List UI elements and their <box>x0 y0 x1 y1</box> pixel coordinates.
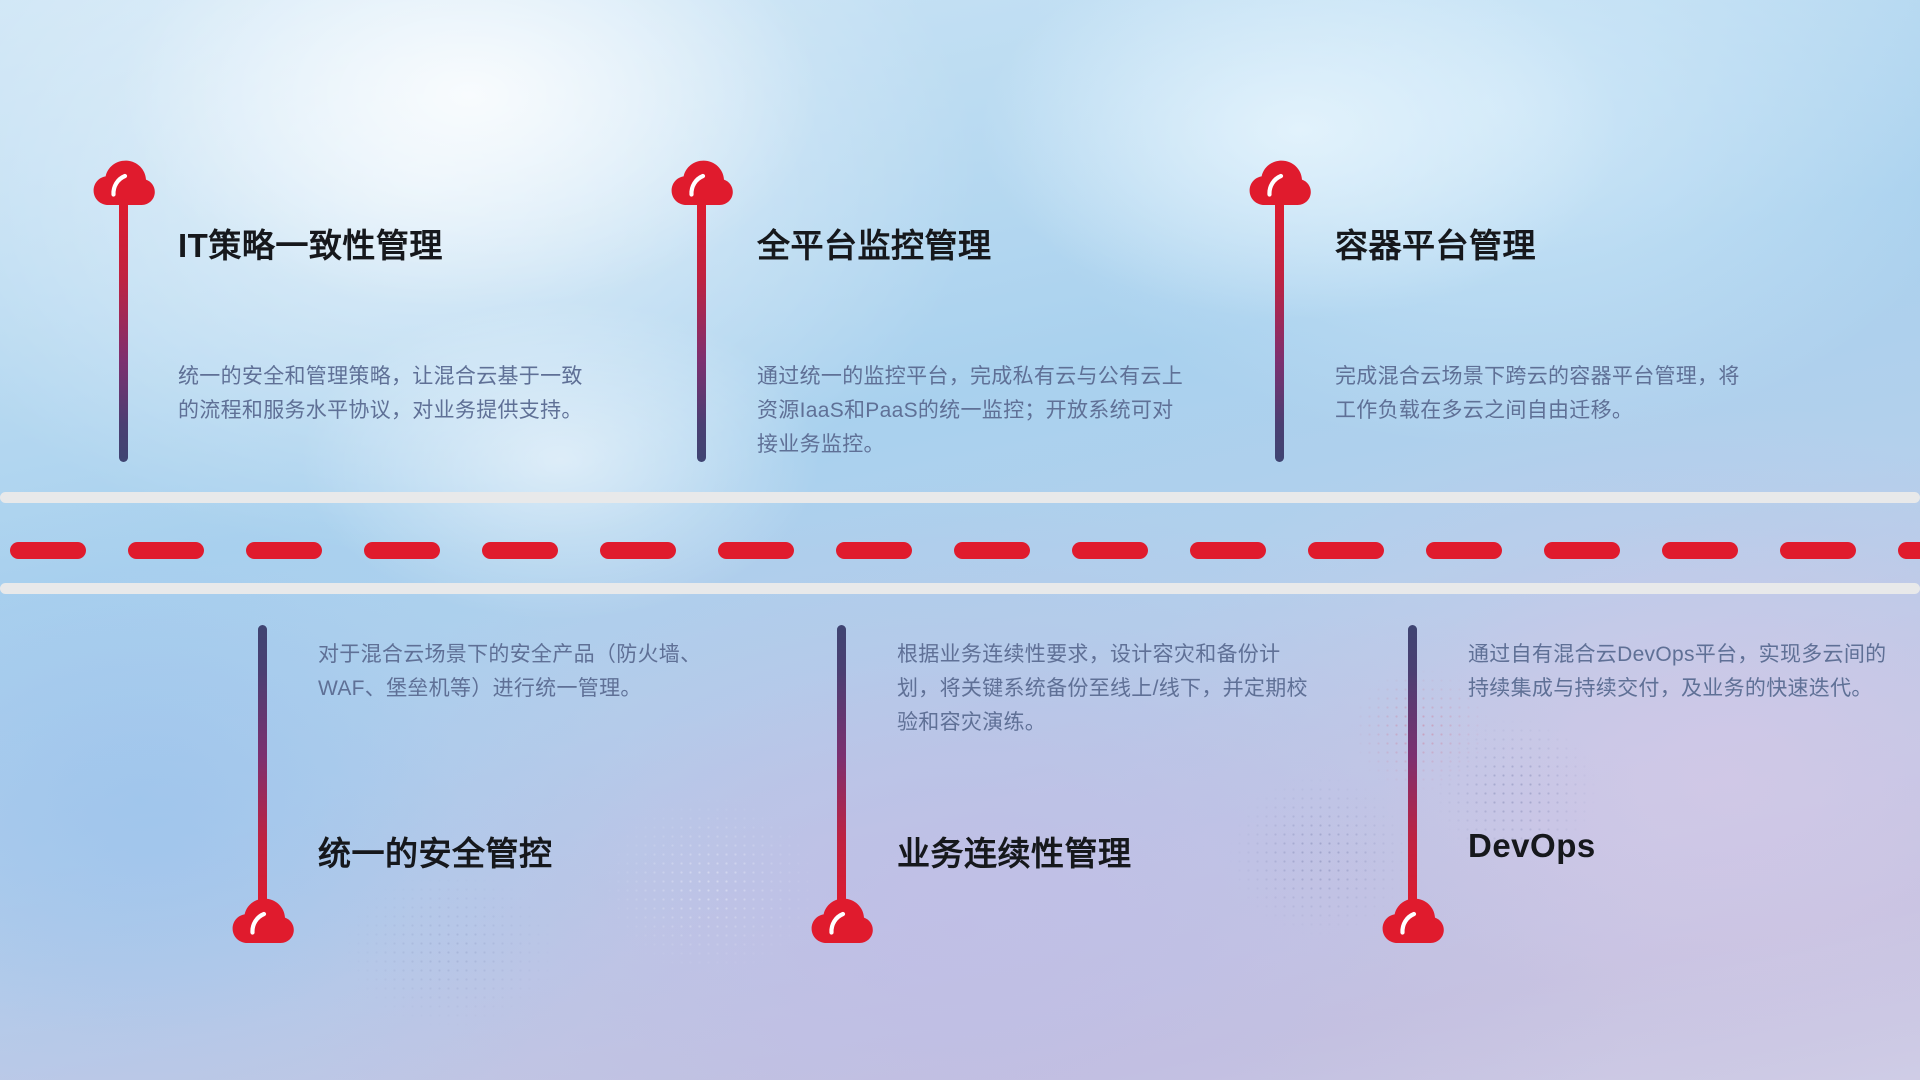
card-body-text: 对于混合云场景下的安全产品（防火墙、WAF、堡垒机等）进行统一管理。 <box>318 638 738 706</box>
card-body-text: 通过自有混合云DevOps平台，实现多云间的持续集成与持续交付，及业务的快速迭代… <box>1468 638 1888 706</box>
card-heading: 全平台监控管理 <box>757 219 992 267</box>
dash-segment <box>1308 542 1384 559</box>
card-body-text: 统一的安全和管理策略，让混合云基于一致的流程和服务水平协议，对业务提供支持。 <box>178 360 598 428</box>
dash-segment <box>364 542 440 559</box>
dash-segment <box>128 542 204 559</box>
card-heading: 统一的安全管控 <box>318 827 553 875</box>
connector-stem <box>119 198 128 462</box>
decorative-dot-field <box>560 760 860 1010</box>
dash-segment <box>718 542 794 559</box>
divider-line-bottom <box>0 583 1920 594</box>
dash-segment <box>1898 542 1920 559</box>
card-heading: 容器平台管理 <box>1335 219 1536 267</box>
card-body-text: 通过统一的监控平台，完成私有云与公有云上资源IaaS和PaaS的统一监控；开放系… <box>757 360 1187 462</box>
card-heading: 业务连续性管理 <box>897 827 1132 875</box>
divider-line-top <box>0 492 1920 503</box>
card-heading: DevOps <box>1468 827 1596 865</box>
background-glow <box>300 300 820 620</box>
dash-segment <box>1662 542 1738 559</box>
dash-segment <box>836 542 912 559</box>
infographic-canvas: IT策略一致性管理 统一的安全和管理策略，让混合云基于一致的流程和服务水平协议，… <box>0 0 1920 1080</box>
dash-segment <box>1426 542 1502 559</box>
dash-segment <box>1190 542 1266 559</box>
card-heading: IT策略一致性管理 <box>178 219 443 267</box>
background-glow <box>0 560 460 1040</box>
cloud-icon <box>1382 898 1444 944</box>
connector-stem <box>697 198 706 462</box>
cloud-icon <box>232 898 294 944</box>
card-body-text: 根据业务连续性要求，设计容灾和备份计划，将关键系统备份至线上/线下，并定期校验和… <box>897 638 1317 740</box>
connector-stem <box>1275 198 1284 462</box>
card-body-text: 完成混合云场景下跨云的容器平台管理，将工作负载在多云之间自由迁移。 <box>1335 360 1755 428</box>
dash-segment <box>600 542 676 559</box>
dash-segment <box>246 542 322 559</box>
dash-segment <box>10 542 86 559</box>
connector-stem <box>258 625 267 910</box>
cloud-icon <box>811 898 873 944</box>
dash-segment <box>1780 542 1856 559</box>
connector-stem <box>837 625 846 910</box>
dash-segment <box>482 542 558 559</box>
dash-segment <box>1544 542 1620 559</box>
red-dashed-separator <box>0 542 1920 559</box>
background-glow <box>1380 520 1920 1040</box>
connector-stem <box>1408 625 1417 910</box>
dash-segment <box>954 542 1030 559</box>
dash-segment <box>1072 542 1148 559</box>
